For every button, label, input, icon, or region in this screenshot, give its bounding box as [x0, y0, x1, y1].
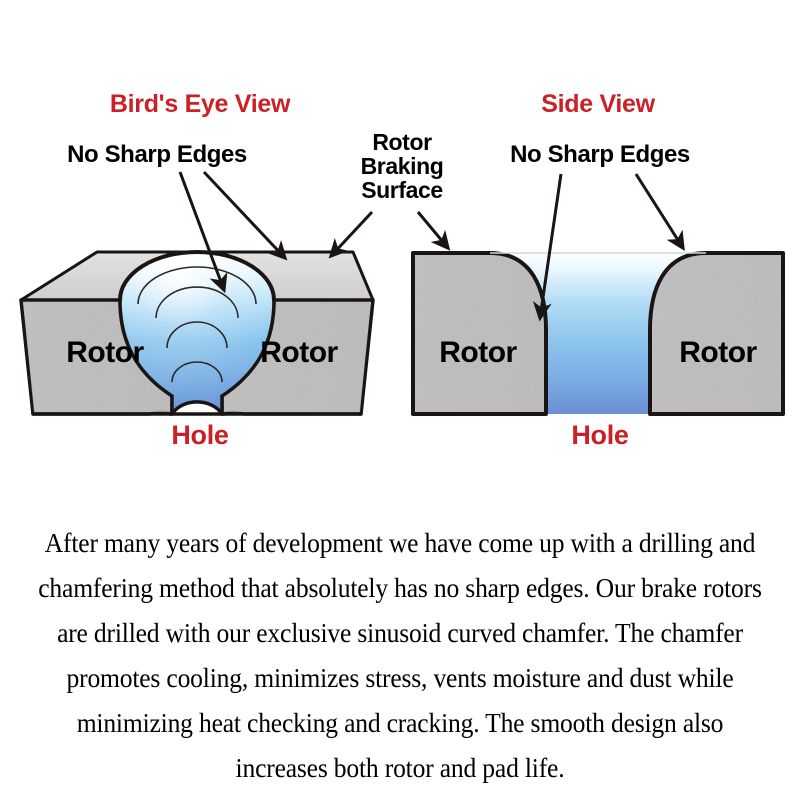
side-view-rotor-block-left-grain: [415, 255, 544, 412]
side-view-diagram: Side View No Sharp Edges Rotor Rotor Hol…: [413, 90, 783, 450]
birds-eye-no-sharp-edges-label: No Sharp Edges: [67, 141, 247, 168]
description-paragraph: After many years of development we have …: [35, 520, 764, 790]
birds-eye-arrow-no-sharp-edges-2: [204, 172, 285, 258]
diagrams-svg: Bird's Eye View No Sharp Edges Rotor Bra…: [0, 0, 800, 480]
braking-surface-arrow-left: [331, 212, 372, 256]
side-view-rotor-label-left: Rotor: [439, 336, 517, 369]
birds-eye-hole-label: Hole: [171, 420, 229, 450]
birds-eye-rotor-label-right: Rotor: [260, 336, 338, 369]
birds-eye-diagram: Bird's Eye View No Sharp Edges Rotor Bra…: [21, 90, 443, 450]
birds-eye-rotor-label-left: Rotor: [66, 336, 144, 369]
side-view-rotor-label-right: Rotor: [679, 336, 757, 369]
side-view-arrow-no-sharp-edges-right: [636, 174, 683, 248]
side-view-hole-label: Hole: [571, 420, 629, 450]
side-view-title: Side View: [541, 90, 655, 118]
side-view-rotor-block-right-grain: [652, 255, 781, 412]
rotor-chamfer-infographic: Bird's Eye View No Sharp Edges Rotor Bra…: [0, 0, 800, 800]
braking-surface-label-line1: Rotor: [372, 129, 432, 155]
braking-surface-arrow-right: [418, 212, 448, 248]
braking-surface-label-line3: Surface: [361, 177, 443, 203]
braking-surface-label-line2: Braking: [361, 153, 444, 179]
side-view-no-sharp-edges-label: No Sharp Edges: [510, 141, 690, 168]
diagram-area: Bird's Eye View No Sharp Edges Rotor Bra…: [0, 0, 800, 480]
birds-eye-title: Bird's Eye View: [110, 90, 291, 118]
